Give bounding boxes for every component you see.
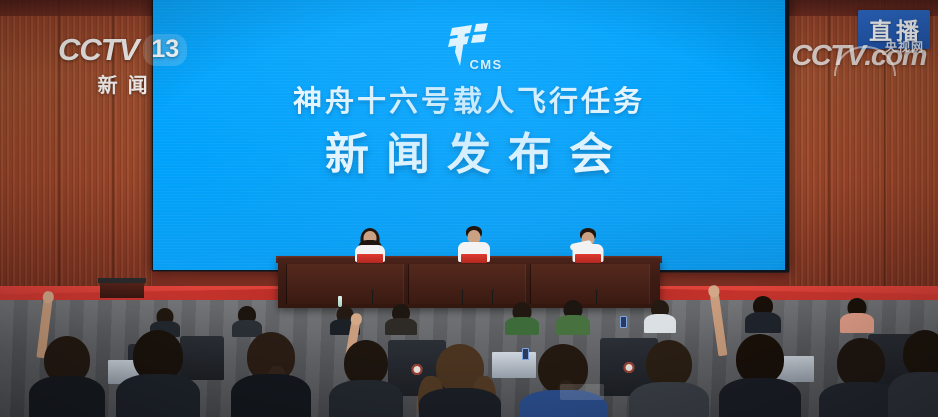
cms-logo: CMS bbox=[153, 22, 785, 72]
audience-member bbox=[644, 300, 676, 332]
live-badge: 直播 bbox=[858, 10, 930, 49]
jacket-text-patch bbox=[560, 384, 604, 400]
audience-member bbox=[505, 302, 539, 334]
audience-member-front bbox=[118, 330, 198, 417]
audience-member bbox=[385, 304, 417, 334]
panelist-left bbox=[348, 228, 392, 262]
microphone-center-2 bbox=[492, 291, 493, 305]
microphone-right bbox=[596, 291, 597, 305]
screen-event-title: 新闻发布会 bbox=[153, 118, 785, 182]
podium-table bbox=[278, 258, 660, 308]
audience-member bbox=[556, 300, 590, 334]
equipment-case-top bbox=[98, 278, 146, 283]
audience-member-front bbox=[232, 332, 310, 417]
audience-member-front bbox=[30, 336, 104, 417]
audience-member bbox=[840, 298, 874, 332]
audience-member-front bbox=[720, 334, 800, 417]
broadcast-frame: CMS 神舟十六号载人飞行任务 新闻发布会 bbox=[0, 0, 938, 417]
audience-member-front bbox=[420, 344, 500, 417]
panelist-center bbox=[452, 226, 496, 262]
screen-mission-title: 神舟十六号载人飞行任务 bbox=[153, 78, 785, 120]
microphone-left bbox=[372, 291, 373, 305]
wall-panel-left bbox=[0, 0, 152, 300]
equipment-case bbox=[100, 282, 144, 298]
audience-phone bbox=[620, 316, 627, 328]
audience-member-front bbox=[890, 330, 938, 417]
audience-member-front bbox=[520, 344, 606, 417]
audience-member-front bbox=[630, 340, 708, 417]
audience-member bbox=[745, 296, 781, 332]
microphone-center bbox=[462, 291, 463, 305]
cms-flag-icon bbox=[436, 22, 502, 70]
audience-member-front bbox=[330, 340, 402, 417]
